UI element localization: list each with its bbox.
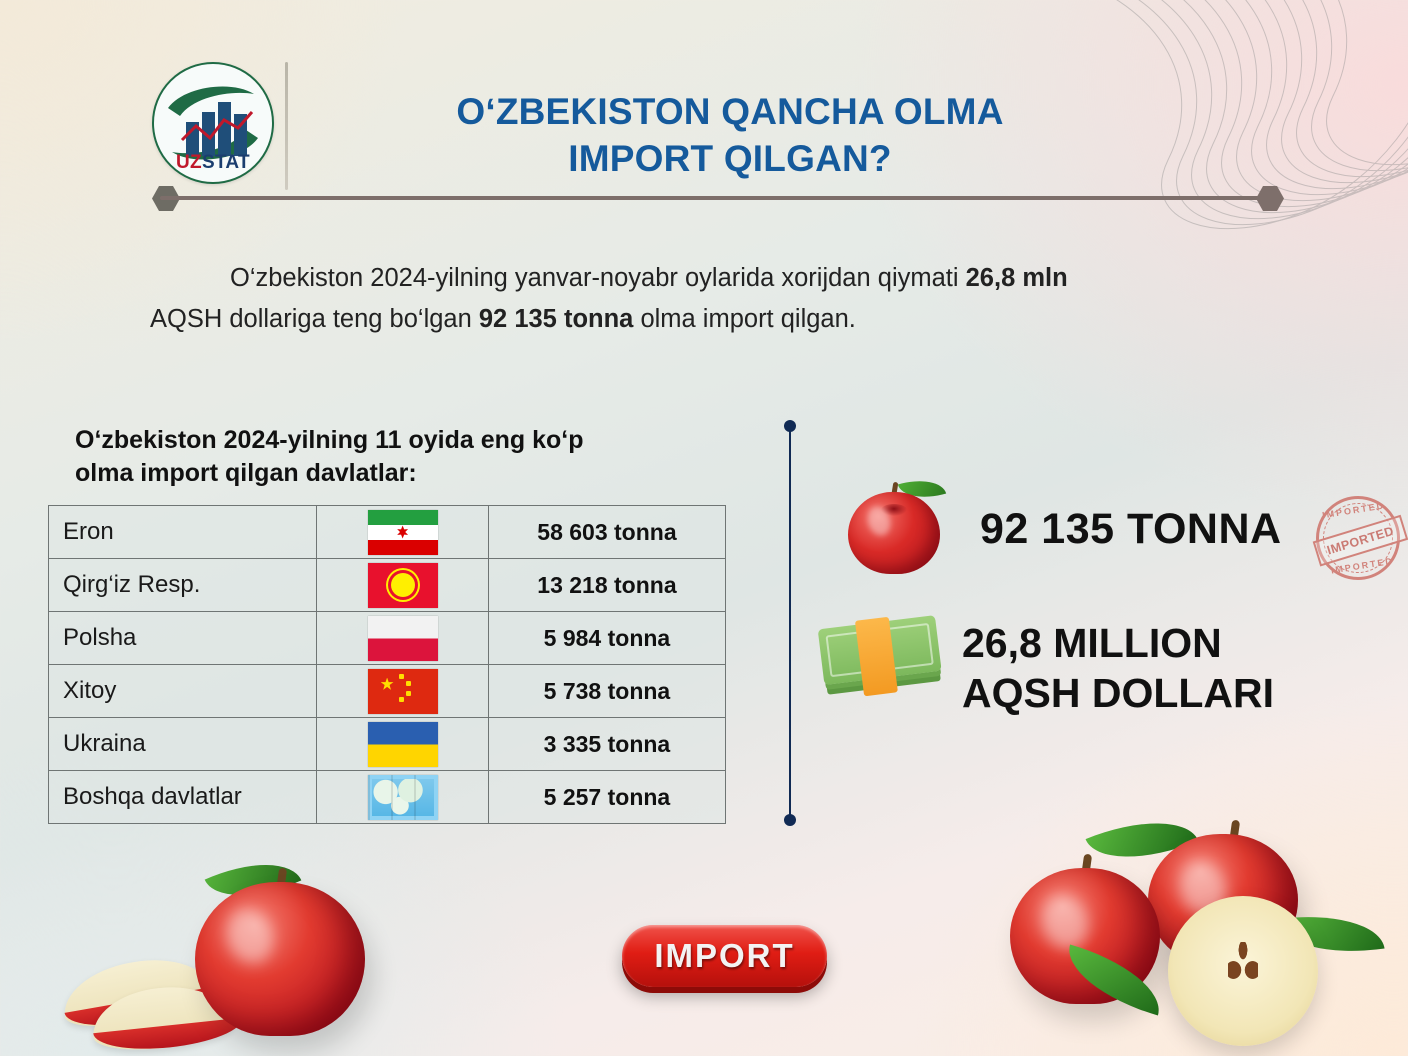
money-highlight-line1: 26,8 MILLION bbox=[962, 618, 1274, 668]
logo-uz-text: UZ bbox=[176, 152, 202, 173]
kyrgyzstan-flag-icon bbox=[368, 563, 438, 608]
intro-line2-text: AQSH dollariga teng bo‘lgan bbox=[150, 305, 479, 333]
iran-flag-icon bbox=[368, 510, 438, 555]
country-value: 58 603 tonna bbox=[488, 506, 725, 559]
country-flag-cell bbox=[317, 665, 489, 718]
uzstat-logo: UZSTAT bbox=[152, 62, 280, 190]
country-flag-cell bbox=[317, 718, 489, 771]
import-countries-table: Eron 58 603 tonna Qirg‘iz Resp. 13 218 t… bbox=[48, 505, 726, 824]
apple-body bbox=[848, 492, 940, 574]
apple-body bbox=[195, 882, 365, 1036]
country-value: 5 984 tonna bbox=[488, 612, 725, 665]
country-name: Ukraina bbox=[49, 718, 317, 771]
country-name: Polsha bbox=[49, 612, 317, 665]
intro-line1-text: O‘zbekiston 2024-yilning yanvar-noyabr o… bbox=[230, 264, 966, 292]
poland-flag-icon bbox=[368, 616, 438, 661]
intro-line1: O‘zbekiston 2024-yilning yanvar-noyabr o… bbox=[150, 258, 1265, 299]
logo-circle: UZSTAT bbox=[152, 62, 274, 184]
country-name: Xitoy bbox=[49, 665, 317, 718]
intro-line2-tail: olma import qilgan. bbox=[633, 305, 856, 333]
table-heading-line1: O‘zbekiston 2024-yilning 11 oyida eng ko… bbox=[75, 424, 725, 457]
table-row: Eron 58 603 tonna bbox=[49, 506, 726, 559]
table-heading: O‘zbekiston 2024-yilning 11 oyida eng ko… bbox=[75, 424, 725, 491]
import-button-label: IMPORT bbox=[654, 937, 794, 975]
logo-wordmark: UZSTAT bbox=[154, 152, 272, 174]
country-flag-cell bbox=[317, 612, 489, 665]
apple-photo-bottom-left bbox=[195, 860, 365, 1036]
intro-paragraph: O‘zbekiston 2024-yilning yanvar-noyabr o… bbox=[150, 258, 1265, 341]
country-name: Eron bbox=[49, 506, 317, 559]
intro-value-tonnage: 92 135 tonna bbox=[479, 305, 633, 333]
country-flag-cell bbox=[317, 506, 489, 559]
country-flag-cell bbox=[317, 771, 489, 824]
imported-stamp-icon: IMPORTED IMPORTED IMPORTED bbox=[1305, 485, 1408, 590]
table-row: Ukraina 3 335 tonna bbox=[49, 718, 726, 771]
table-row: Qirg‘iz Resp. 13 218 tonna bbox=[49, 559, 726, 612]
money-highlight: 26,8 MILLION AQSH DOLLARI bbox=[962, 618, 1274, 718]
china-flag-icon bbox=[368, 669, 438, 714]
import-button[interactable]: IMPORT bbox=[622, 925, 827, 987]
country-value: 3 335 tonna bbox=[488, 718, 725, 771]
header-vertical-divider bbox=[285, 62, 288, 190]
tonnage-highlight: 92 135 TONNA bbox=[980, 505, 1282, 554]
country-value: 5 738 tonna bbox=[488, 665, 725, 718]
table-row: Xitoy 5 738 tonna bbox=[49, 665, 726, 718]
page-title: O‘ZBEKISTON QANCHA OLMA IMPORT QILGAN? bbox=[330, 88, 1130, 183]
country-name: Qirg‘iz Resp. bbox=[49, 559, 317, 612]
table-row: Polsha 5 984 tonna bbox=[49, 612, 726, 665]
country-flag-cell bbox=[317, 559, 489, 612]
apple-half-cut bbox=[1168, 896, 1318, 1046]
header-rule bbox=[160, 196, 1272, 200]
country-name: Boshqa davlatlar bbox=[49, 771, 317, 824]
logo-stat-text: STAT bbox=[202, 152, 250, 173]
intro-value-money: 26,8 mln bbox=[966, 264, 1068, 292]
section-vertical-divider bbox=[789, 425, 791, 825]
page-title-line1: O‘ZBEKISTON QANCHA OLMA bbox=[330, 88, 1130, 135]
world-map-icon bbox=[368, 775, 438, 820]
table-row: Boshqa davlatlar 5 257 tonna bbox=[49, 771, 726, 824]
country-value: 5 257 tonna bbox=[488, 771, 725, 824]
country-value: 13 218 tonna bbox=[488, 559, 725, 612]
money-stack-icon bbox=[818, 615, 945, 707]
ukraine-flag-icon bbox=[368, 722, 438, 767]
apple-dent bbox=[881, 504, 907, 516]
page-title-line2: IMPORT QILGAN? bbox=[330, 135, 1130, 182]
red-apple-icon bbox=[848, 478, 940, 574]
table-heading-line2: olma import qilgan davlatlar: bbox=[75, 457, 725, 490]
divider-dot-bottom bbox=[784, 814, 796, 826]
money-highlight-line2: AQSH DOLLARI bbox=[962, 668, 1274, 718]
